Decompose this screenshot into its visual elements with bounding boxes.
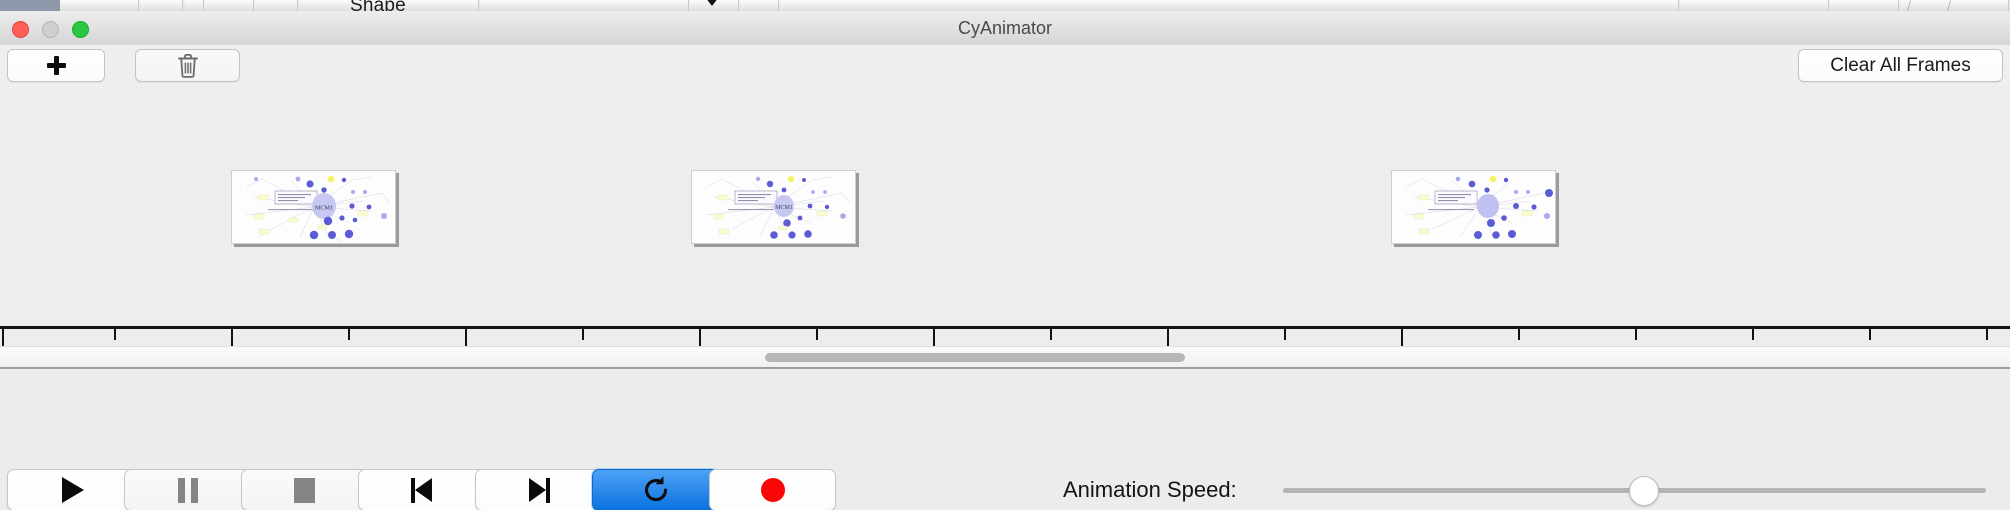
network-preview: MCM1 [692, 171, 855, 243]
cyanimator-window: Shape CyAnimator Clear All Frames [0, 0, 2010, 510]
timeline-panel[interactable]: MCM1 [0, 86, 2010, 346]
animation-speed-slider-thumb[interactable] [1629, 476, 1659, 506]
background-window-strip: Shape [0, 0, 2010, 11]
record-button[interactable] [709, 469, 836, 510]
skip-start-button[interactable] [358, 469, 485, 510]
axis-tick-minor [1752, 329, 1754, 340]
animation-speed-label: Animation Speed: [1063, 469, 1237, 510]
axis-tick-minor [1284, 329, 1286, 340]
add-frame-button[interactable] [7, 49, 105, 82]
playback-control-bar: Animation Speed: [0, 367, 2010, 510]
title-bar: CyAnimator [0, 11, 2010, 46]
play-icon [62, 477, 84, 503]
clear-all-frames-button[interactable]: Clear All Frames [1798, 49, 2003, 82]
clear-all-frames-label: Clear All Frames [1830, 55, 1970, 77]
svg-text:MCM1: MCM1 [315, 205, 333, 212]
timeline-scrollbar-thumb[interactable] [765, 353, 1185, 362]
plus-icon [47, 56, 66, 75]
delete-frame-button[interactable] [135, 49, 240, 82]
pause-icon [178, 478, 198, 503]
axis-tick-minor [582, 329, 584, 340]
axis-tick-minor [1635, 329, 1637, 340]
keyframe-thumbnail[interactable]: MCM1 [231, 170, 396, 244]
svg-text:.: . [240, 188, 241, 190]
timeline-axis [0, 326, 2010, 329]
axis-tick-minor [1869, 329, 1871, 340]
skip-start-icon [409, 478, 435, 503]
loop-icon [641, 475, 671, 505]
axis-tick-minor [1518, 329, 1520, 340]
stop-icon [294, 478, 315, 503]
stop-button[interactable] [241, 469, 368, 510]
axis-tick-minor [1986, 329, 1988, 340]
play-button[interactable] [7, 469, 134, 510]
background-caret-icon [705, 0, 719, 6]
keyframe-thumbnail[interactable] [1391, 170, 1556, 244]
svg-text:MCM1: MCM1 [775, 205, 793, 211]
network-preview [1392, 171, 1555, 243]
keyframe-thumbnail[interactable]: MCM1 [691, 170, 856, 244]
timeline-scrollbar[interactable] [0, 346, 2010, 368]
axis-tick-minor [816, 329, 818, 340]
axis-tick-minor [1050, 329, 1052, 340]
background-shape-label: Shape [350, 0, 406, 11]
trash-icon [177, 53, 199, 79]
toolbar: Clear All Frames [0, 45, 2010, 87]
window-title: CyAnimator [0, 11, 2010, 45]
record-icon [761, 478, 785, 502]
axis-tick-minor [348, 329, 350, 340]
axis-tick-minor [114, 329, 116, 340]
network-preview: MCM1 [232, 171, 395, 243]
skip-end-icon [526, 478, 552, 503]
background-window-titlebar-chunk [0, 0, 60, 11]
pause-button[interactable] [124, 469, 251, 510]
skip-end-button[interactable] [475, 469, 602, 510]
loop-button[interactable] [592, 469, 719, 510]
